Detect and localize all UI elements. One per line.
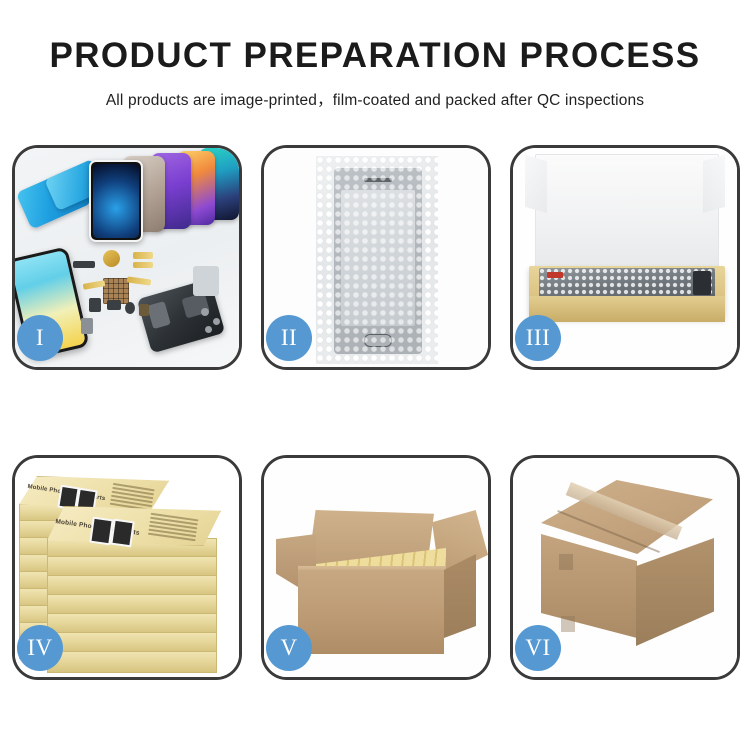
speaker-coil-icon <box>103 250 120 267</box>
box-lid-left-flap <box>525 155 547 213</box>
screw-2-icon <box>213 318 220 325</box>
step-panel-4: Mobile Phone Spare Parts Mobile Phone Sp… <box>12 455 242 680</box>
box-lid-back <box>535 154 719 274</box>
step-panel-3: III <box>510 145 740 370</box>
wrapped-screen-in-box <box>539 268 715 298</box>
header: PRODUCT PREPARATION PROCESS All products… <box>0 0 750 110</box>
carton-front-face <box>298 570 444 654</box>
stacked-box <box>47 575 217 596</box>
step-badge-5: V <box>266 625 312 671</box>
part-connector-icon <box>107 300 121 310</box>
phone-front-icon <box>89 160 143 242</box>
step-badge-2: II <box>266 315 312 361</box>
product-preparation-infographic: PRODUCT PREPARATION PROCESS All products… <box>0 0 750 750</box>
step-badge-4: IV <box>17 625 63 671</box>
stacked-box <box>47 651 217 673</box>
part-camera-icon <box>125 302 135 314</box>
flex-cable-icon <box>133 252 153 259</box>
step-badge-3: III <box>515 315 561 361</box>
bubble-wrap-overlay <box>316 156 438 364</box>
kraft-box-front-wall <box>529 296 725 322</box>
flex-cable-2-icon <box>133 262 153 268</box>
screw-3-icon <box>205 326 212 333</box>
page-subtitle: All products are image-printed，film-coat… <box>0 88 750 110</box>
part-strip-icon <box>73 261 95 268</box>
box-lid-right-flap <box>703 155 725 213</box>
screen-label-icon <box>547 272 563 278</box>
step-badge-6: VI <box>515 625 561 671</box>
steps-grid: I II <box>12 145 740 680</box>
screw-icon <box>201 308 209 316</box>
carton-handle-tab-2-icon <box>561 616 575 632</box>
part-gold-chip-icon <box>139 304 149 316</box>
stacked-box <box>47 613 217 634</box>
tool-icon <box>193 266 219 296</box>
step-panel-2: II <box>261 145 491 370</box>
carton-handle-tab-icon <box>559 554 573 570</box>
stacked-box <box>47 632 217 653</box>
stacked-box <box>47 556 217 577</box>
step-panel-5: V <box>261 455 491 680</box>
step-badge-1: I <box>17 315 63 361</box>
part-bracket-icon <box>81 318 93 334</box>
page-title: PRODUCT PREPARATION PROCESS <box>0 38 750 73</box>
box-artwork-2-icon <box>110 519 134 548</box>
step-panel-1: I <box>12 145 242 370</box>
step-panel-6: VI <box>510 455 740 680</box>
stacked-box <box>47 594 217 615</box>
part-chip-icon <box>89 298 101 312</box>
